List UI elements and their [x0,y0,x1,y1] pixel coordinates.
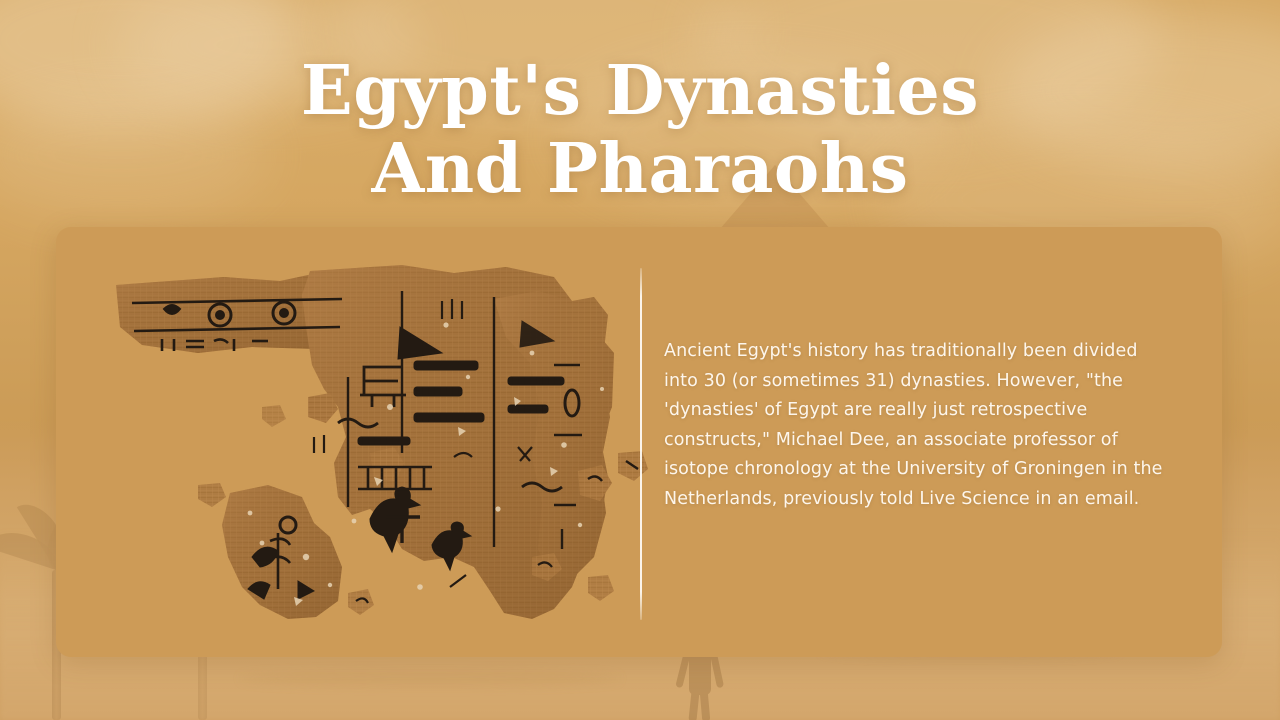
slide-root: Egypt's Dynasties And Pharaohs [0,0,1280,720]
title-line-2: And Pharaohs [0,130,1280,208]
content-card: Ancient Egypt's history has traditionall… [56,227,1222,657]
sand-ripple [240,671,620,686]
papyrus-image [102,257,668,627]
vertical-divider [640,268,642,620]
slide-title: Egypt's Dynasties And Pharaohs [0,52,1280,208]
body-paragraph: Ancient Egypt's history has traditionall… [664,337,1168,514]
title-line-1: Egypt's Dynasties [0,52,1280,130]
